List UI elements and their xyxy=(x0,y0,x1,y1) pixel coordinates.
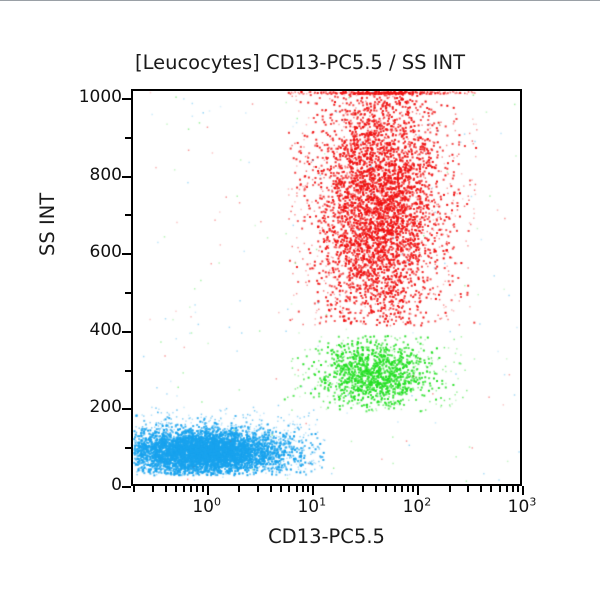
x-axis-minor-tick xyxy=(190,486,192,492)
x-axis-minor-tick xyxy=(196,486,198,492)
x-axis-minor-tick xyxy=(238,486,240,492)
x-axis-minor-tick xyxy=(165,486,167,492)
x-axis-minor-tick xyxy=(362,486,364,492)
x-axis-minor-tick xyxy=(490,486,492,492)
y-axis-label: SS INT xyxy=(36,193,59,256)
x-axis-minor-tick xyxy=(467,486,469,492)
x-axis-minor-tick xyxy=(270,486,272,492)
x-axis-minor-tick xyxy=(343,486,345,492)
x-axis-minor-tick xyxy=(302,486,304,492)
x-axis-minor-tick xyxy=(257,486,259,492)
x-axis-minor-tick xyxy=(375,486,377,492)
x-axis-minor-tick xyxy=(480,486,482,492)
x-axis-minor-tick xyxy=(394,486,396,492)
x-axis-major-tick xyxy=(522,486,524,495)
x-axis-tick-label: 101 xyxy=(297,499,326,516)
x-axis-minor-tick xyxy=(401,486,403,492)
x-axis-tick-label: 102 xyxy=(403,499,432,516)
x-axis-major-tick xyxy=(312,486,314,495)
x-axis-minor-tick xyxy=(512,486,514,492)
x-axis-tick-label: 103 xyxy=(508,499,537,516)
x-axis-minor-tick xyxy=(385,486,387,492)
x-axis-major-tick xyxy=(207,486,209,495)
x-axis-minor-tick xyxy=(296,486,298,492)
x-axis-minor-tick xyxy=(449,486,451,492)
x-axis-minor-tick xyxy=(175,486,177,492)
x-axis-minor-tick xyxy=(183,486,185,492)
x-axis-label: CD13-PC5.5 xyxy=(131,525,522,548)
x-axis-minor-tick xyxy=(517,486,519,492)
x-axis-minor-tick xyxy=(288,486,290,492)
x-axis-minor-tick xyxy=(202,486,204,492)
x-axis-minor-tick xyxy=(506,486,508,492)
x-axis-minor-tick xyxy=(499,486,501,492)
x-axis-major-tick xyxy=(417,486,419,495)
x-axis-minor-tick xyxy=(280,486,282,492)
x-axis-minor-tick xyxy=(133,486,135,492)
x-axis-minor-tick xyxy=(307,486,309,492)
x-axis-minor-tick xyxy=(152,486,154,492)
x-axis-minor-tick xyxy=(407,486,409,492)
x-axis-tick-label: 100 xyxy=(192,499,221,516)
screenshot-root: [Leucocytes] CD13-PC5.5 / SS INT 0200400… xyxy=(0,0,600,600)
x-axis-minor-tick xyxy=(412,486,414,492)
